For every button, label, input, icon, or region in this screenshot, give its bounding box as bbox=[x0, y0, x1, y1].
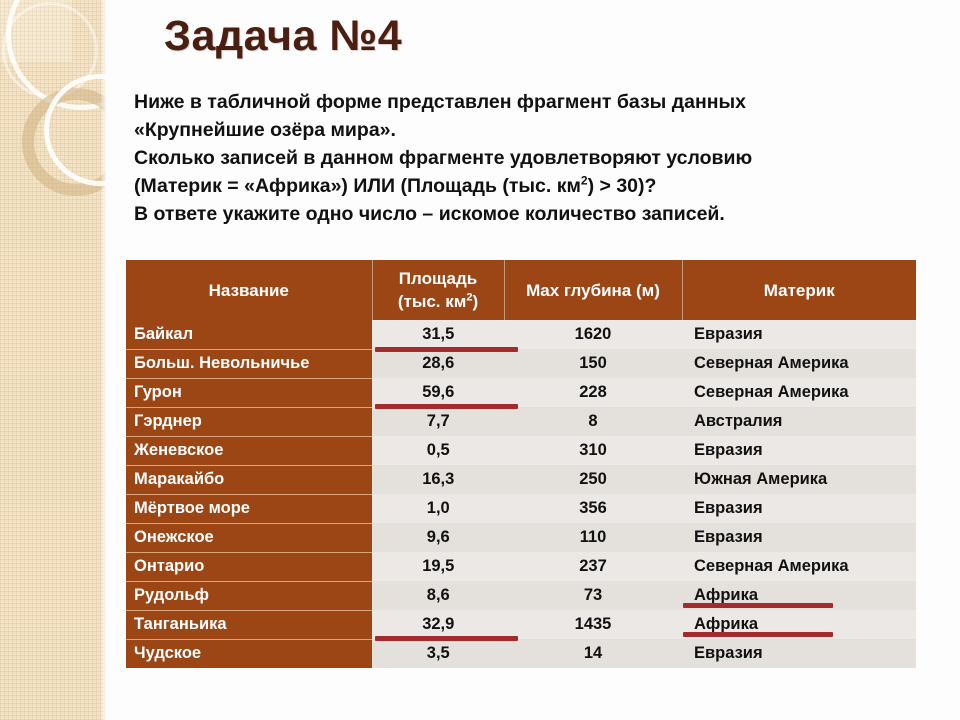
table-row: Чудское3,514Евразия bbox=[126, 639, 916, 668]
cell-depth: 1620 bbox=[504, 320, 682, 349]
cell-area: 1,0 bbox=[372, 494, 504, 523]
cell-area: 9,6 bbox=[372, 523, 504, 552]
cell-continent: Австралия bbox=[682, 407, 916, 436]
cell-area: 8,6 bbox=[372, 581, 504, 610]
area-mark-baikal bbox=[375, 347, 518, 352]
cell-depth: 8 bbox=[504, 407, 682, 436]
prompt-line-3: Сколько записей в данном фрагменте удовл… bbox=[134, 144, 874, 172]
table-row: Байкал31,51620Евразия bbox=[126, 320, 916, 349]
header-area: Площадь (тыс. км2) bbox=[372, 260, 504, 320]
area-mark-huron bbox=[375, 404, 518, 409]
cell-area: 3,5 bbox=[372, 639, 504, 668]
cell-name: Онтарио bbox=[126, 552, 372, 581]
continent-mark-tang bbox=[683, 632, 833, 637]
slide-content: Задача №4 Ниже в табличной форме предста… bbox=[106, 0, 960, 720]
cell-area: 16,3 bbox=[372, 465, 504, 494]
table-row: Женевское0,5310Евразия bbox=[126, 436, 916, 465]
header-area-line2-b: ) bbox=[472, 292, 478, 311]
page-title: Задача №4 bbox=[164, 12, 402, 61]
prompt-line-4: (Материк = «Африка») ИЛИ (Площадь (тыс. … bbox=[134, 172, 874, 200]
continent-mark-rudolf bbox=[683, 603, 833, 608]
cell-continent: Евразия bbox=[682, 436, 916, 465]
prompt-line-4-a: (Материк = «Африка») ИЛИ (Площадь (тыс. … bbox=[134, 175, 581, 197]
prompt-line-2: «Крупнейшие озёра мира». bbox=[134, 116, 874, 144]
table-row: Больш. Невольничье28,6150Северная Америк… bbox=[126, 349, 916, 378]
cell-continent: Южная Америка bbox=[682, 465, 916, 494]
cell-name: Байкал bbox=[126, 320, 372, 349]
cell-name: Танганьика bbox=[126, 610, 372, 639]
header-area-line1: Площадь bbox=[399, 269, 477, 288]
table-header-row: Название Площадь (тыс. км2) Max глубина … bbox=[126, 260, 916, 320]
cell-name: Больш. Невольничье bbox=[126, 349, 372, 378]
cell-area: 28,6 bbox=[372, 349, 504, 378]
cell-continent: Евразия bbox=[682, 494, 916, 523]
cell-continent: Северная Америка bbox=[682, 349, 916, 378]
table-row: Мёртвое море1,0356Евразия bbox=[126, 494, 916, 523]
header-name: Название bbox=[126, 260, 372, 320]
cell-depth: 1435 bbox=[504, 610, 682, 639]
cell-name: Мёртвое море bbox=[126, 494, 372, 523]
cell-name: Чудское bbox=[126, 639, 372, 668]
cell-area: 32,9 bbox=[372, 610, 504, 639]
table-row: Маракайбо16,3250Южная Америка bbox=[126, 465, 916, 494]
cell-depth: 150 bbox=[504, 349, 682, 378]
area-mark-tanganyika bbox=[375, 636, 518, 641]
cell-continent: Евразия bbox=[682, 320, 916, 349]
header-area-line2-a: (тыс. км bbox=[398, 292, 467, 311]
cell-depth: 250 bbox=[504, 465, 682, 494]
cell-name: Гэрднер bbox=[126, 407, 372, 436]
table-row: Онтарио19,5237Северная Америка bbox=[126, 552, 916, 581]
table-body: Байкал31,51620ЕвразияБольш. Невольничье2… bbox=[126, 320, 916, 668]
cell-area: 31,5 bbox=[372, 320, 504, 349]
prompt-line-4-sup: 2 bbox=[581, 174, 588, 188]
cell-name: Женевское bbox=[126, 436, 372, 465]
cell-area: 0,5 bbox=[372, 436, 504, 465]
prompt-line-1: Ниже в табличной форме представлен фрагм… bbox=[134, 88, 874, 116]
cell-name: Гурон bbox=[126, 378, 372, 407]
cell-name: Онежское bbox=[126, 523, 372, 552]
cell-continent: Евразия bbox=[682, 523, 916, 552]
cell-depth: 237 bbox=[504, 552, 682, 581]
cell-area: 59,6 bbox=[372, 378, 504, 407]
header-depth: Max глубина (м) bbox=[504, 260, 682, 320]
cell-depth: 110 bbox=[504, 523, 682, 552]
table-row: Онежское9,6110Евразия bbox=[126, 523, 916, 552]
table-row: Гэрднер7,78Австралия bbox=[126, 407, 916, 436]
cell-depth: 73 bbox=[504, 581, 682, 610]
header-continent: Материк bbox=[682, 260, 916, 320]
cell-continent: Северная Америка bbox=[682, 378, 916, 407]
cell-continent: Евразия bbox=[682, 639, 916, 668]
cell-depth: 228 bbox=[504, 378, 682, 407]
cell-name: Маракайбо bbox=[126, 465, 372, 494]
prompt-line-5: В ответе укажите одно число – искомое ко… bbox=[134, 200, 874, 228]
cell-area: 19,5 bbox=[372, 552, 504, 581]
cell-depth: 310 bbox=[504, 436, 682, 465]
table-row: Гурон59,6228Северная Америка bbox=[126, 378, 916, 407]
decorative-sidebar bbox=[0, 0, 106, 720]
cell-depth: 14 bbox=[504, 639, 682, 668]
prompt-line-4-b: ) > 30)? bbox=[588, 175, 657, 197]
cell-depth: 356 bbox=[504, 494, 682, 523]
problem-statement: Ниже в табличной форме представлен фрагм… bbox=[134, 88, 874, 228]
table-header: Название Площадь (тыс. км2) Max глубина … bbox=[126, 260, 916, 320]
cell-area: 7,7 bbox=[372, 407, 504, 436]
cell-continent: Северная Америка bbox=[682, 552, 916, 581]
cell-name: Рудольф bbox=[126, 581, 372, 610]
